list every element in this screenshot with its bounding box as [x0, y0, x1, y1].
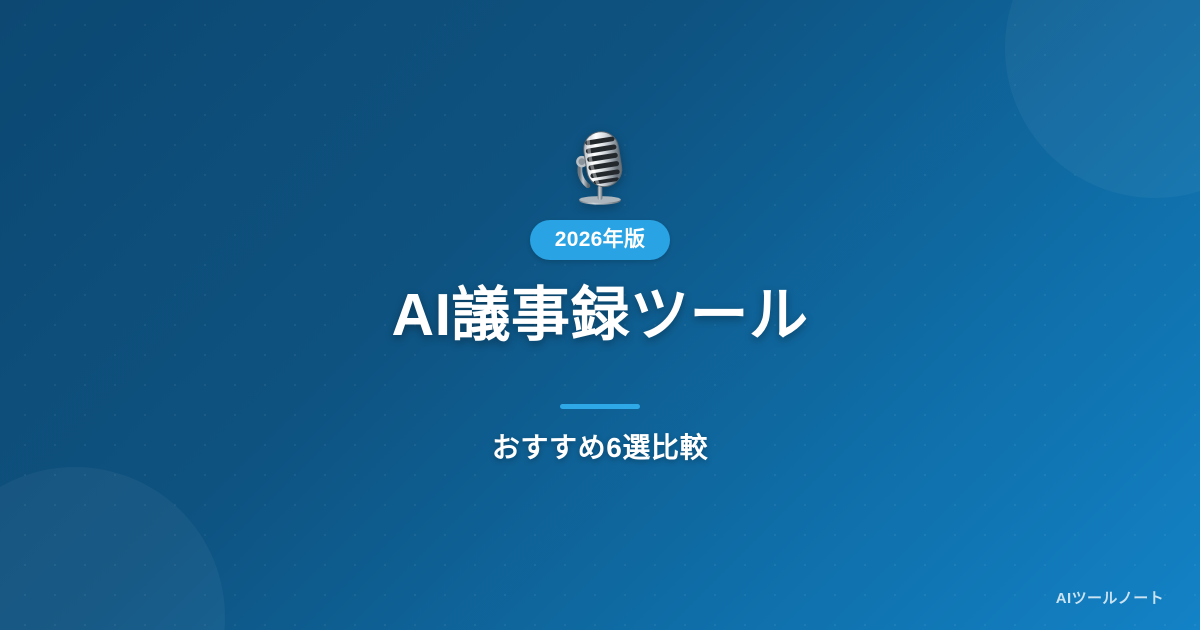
year-badge: 2026年版 — [530, 220, 671, 260]
hero-content: 2026年版 AI議事録ツール おすすめ6選比較 — [0, 0, 1200, 630]
brand-label: AIツールノート — [1056, 587, 1164, 608]
studio-microphone-icon — [557, 124, 643, 210]
og-hero-card: 2026年版 AI議事録ツール おすすめ6選比較 AIツールノート — [0, 0, 1200, 630]
page-subtitle: おすすめ6選比較 — [492, 431, 708, 465]
title-divider — [560, 404, 640, 409]
page-title: AI議事録ツール — [391, 284, 808, 347]
